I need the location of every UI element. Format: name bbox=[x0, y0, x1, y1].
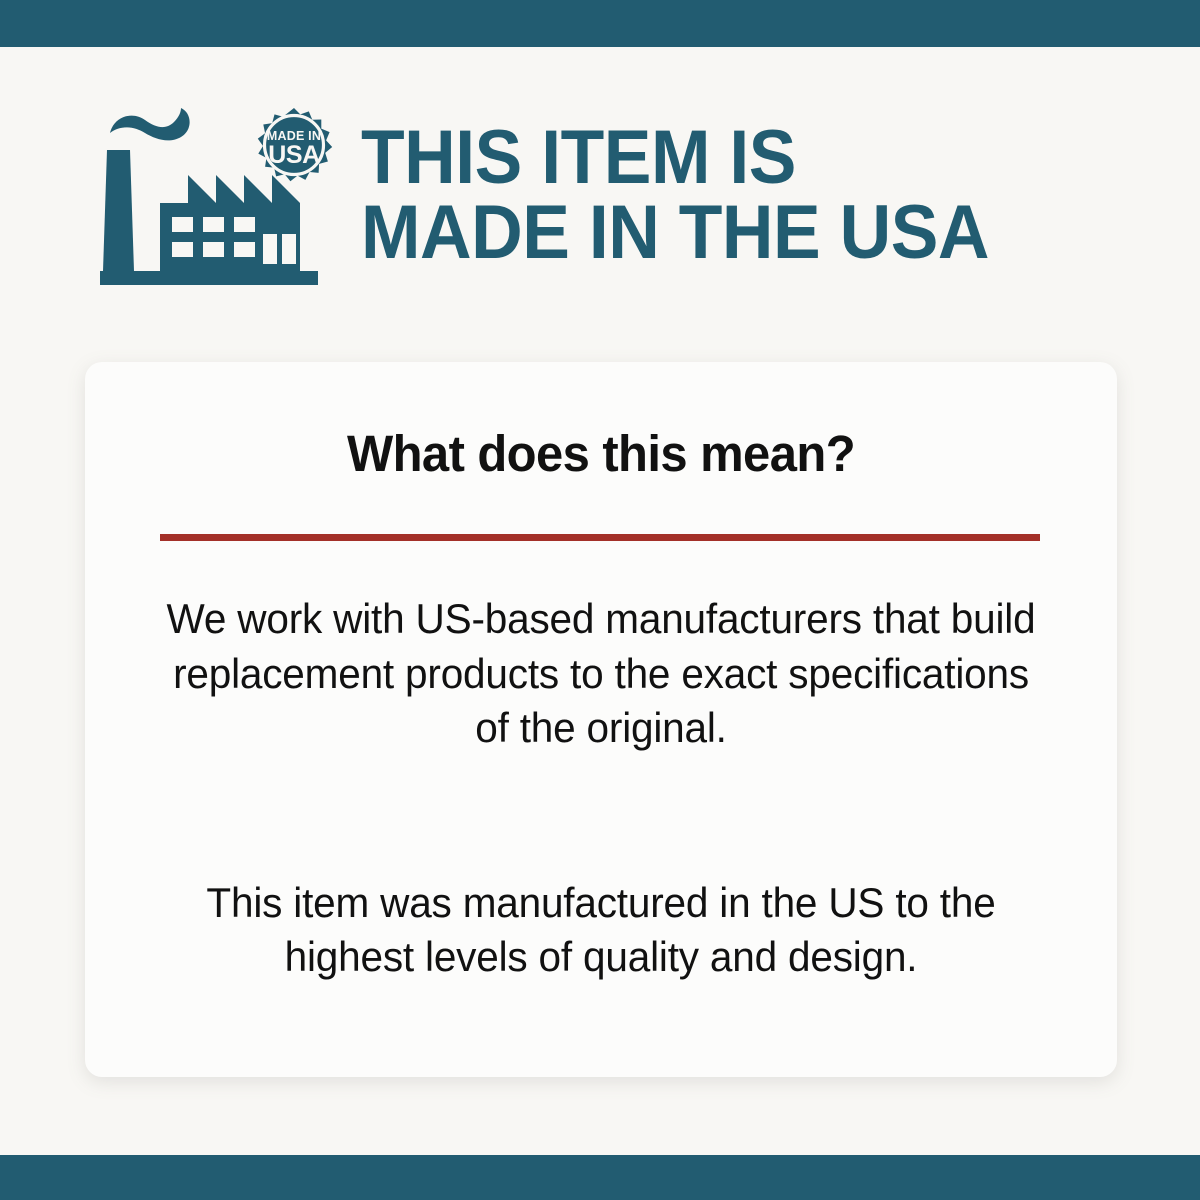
body-paragraph-2: This item was manufactured in the US to … bbox=[151, 876, 1050, 985]
title-line-1: THIS ITEM IS bbox=[361, 120, 1112, 195]
title-line-2: MADE IN THE USA bbox=[361, 195, 1112, 270]
made-in-usa-banner: MADE IN USA THIS ITEM IS MADE IN THE USA… bbox=[0, 0, 1200, 1200]
page-title: THIS ITEM IS MADE IN THE USA bbox=[361, 120, 1112, 270]
bottom-accent-bar bbox=[0, 1155, 1200, 1200]
top-accent-bar bbox=[0, 0, 1200, 47]
card-body: We work with US-based manufacturers that… bbox=[135, 592, 1067, 985]
card-heading: What does this mean? bbox=[106, 424, 1097, 483]
factory-made-in-usa-icon: MADE IN USA bbox=[100, 103, 335, 288]
header: MADE IN USA THIS ITEM IS MADE IN THE USA bbox=[100, 95, 1160, 295]
card-divider bbox=[160, 534, 1040, 541]
info-card: What does this mean? We work with US-bas… bbox=[85, 362, 1117, 1077]
badge-line-2: USA bbox=[268, 141, 320, 169]
body-paragraph-1: We work with US-based manufacturers that… bbox=[151, 592, 1050, 756]
